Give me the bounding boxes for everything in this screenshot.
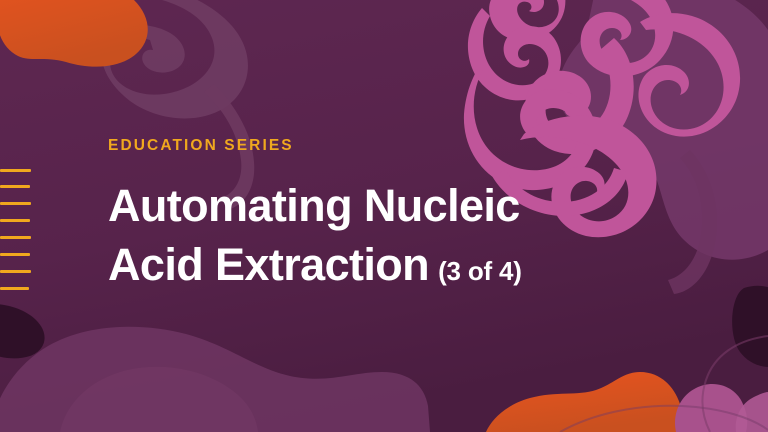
ruled-line	[0, 253, 30, 256]
part-counter: (3 of 4)	[438, 256, 522, 286]
title-line-1: Automating Nucleic	[108, 176, 668, 235]
series-eyebrow-label: EDUCATION SERIES	[108, 138, 668, 154]
gold-ruled-lines	[0, 169, 34, 291]
ruled-line	[0, 219, 30, 222]
title-text-block: EDUCATION SERIES Automating Nucleic Acid…	[108, 138, 668, 301]
ruled-line	[0, 287, 29, 290]
title-line-2: Acid Extraction	[108, 239, 429, 290]
ruled-line	[0, 202, 31, 205]
ruled-line	[0, 270, 31, 273]
title-slide: EDUCATION SERIES Automating Nucleic Acid…	[0, 0, 768, 432]
ruled-line	[0, 185, 30, 188]
ruled-line	[0, 169, 31, 172]
ruled-line	[0, 236, 31, 239]
orange-blob-top-left	[0, 0, 148, 67]
title-line-2-wrap: Acid Extraction(3 of 4)	[108, 235, 668, 301]
page-title: Automating Nucleic Acid Extraction(3 of …	[108, 176, 668, 301]
